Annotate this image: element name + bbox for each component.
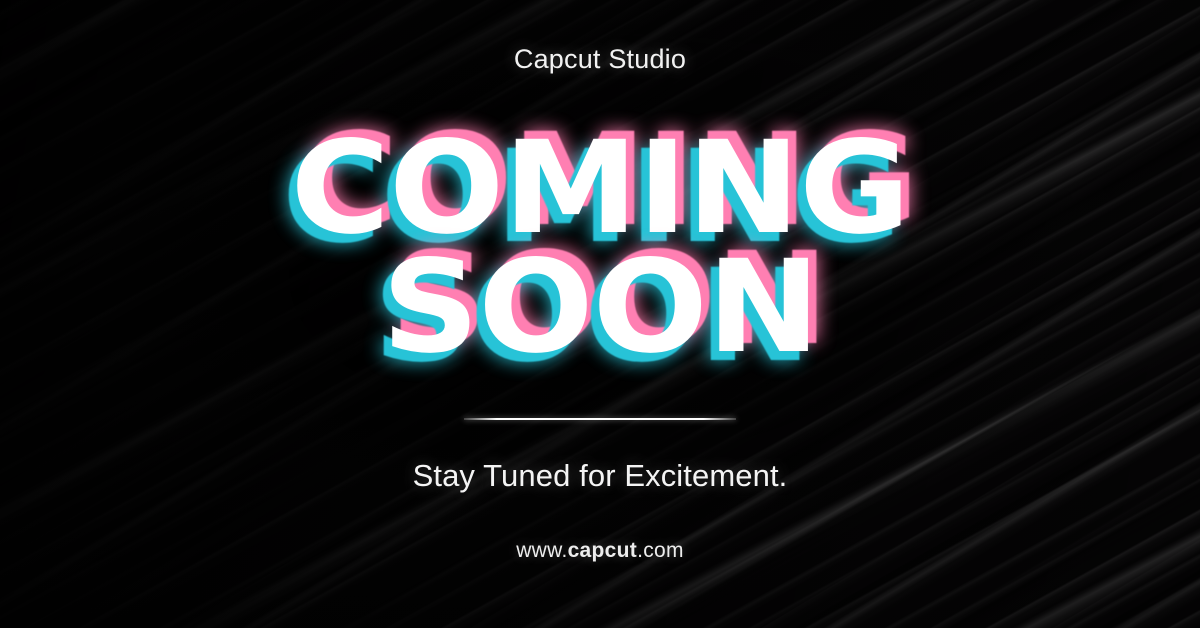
poster-content: Capcut Studio COMING COMING COMING COMIN… [0,0,1200,628]
url-domain-name: capcut [568,539,638,562]
brand-title: Capcut Studio [514,44,686,75]
headline-line-soon: SOON SOON SOON SOON SOON [381,252,819,365]
headline-line-coming: COMING COMING COMING COMING COMING [291,133,910,246]
promo-poster: Capcut Studio COMING COMING COMING COMIN… [0,0,1200,628]
headline-block: COMING COMING COMING COMING COMING SOON … [308,133,892,364]
headline-soon-text: SOON [381,233,819,382]
divider-rule [464,418,736,420]
tagline-text: Stay Tuned for Excitement. [413,458,788,494]
url-tld: .com [637,539,684,562]
url-protocol-prefix: www. [516,539,567,562]
website-url[interactable]: www.capcut.com [516,539,684,563]
